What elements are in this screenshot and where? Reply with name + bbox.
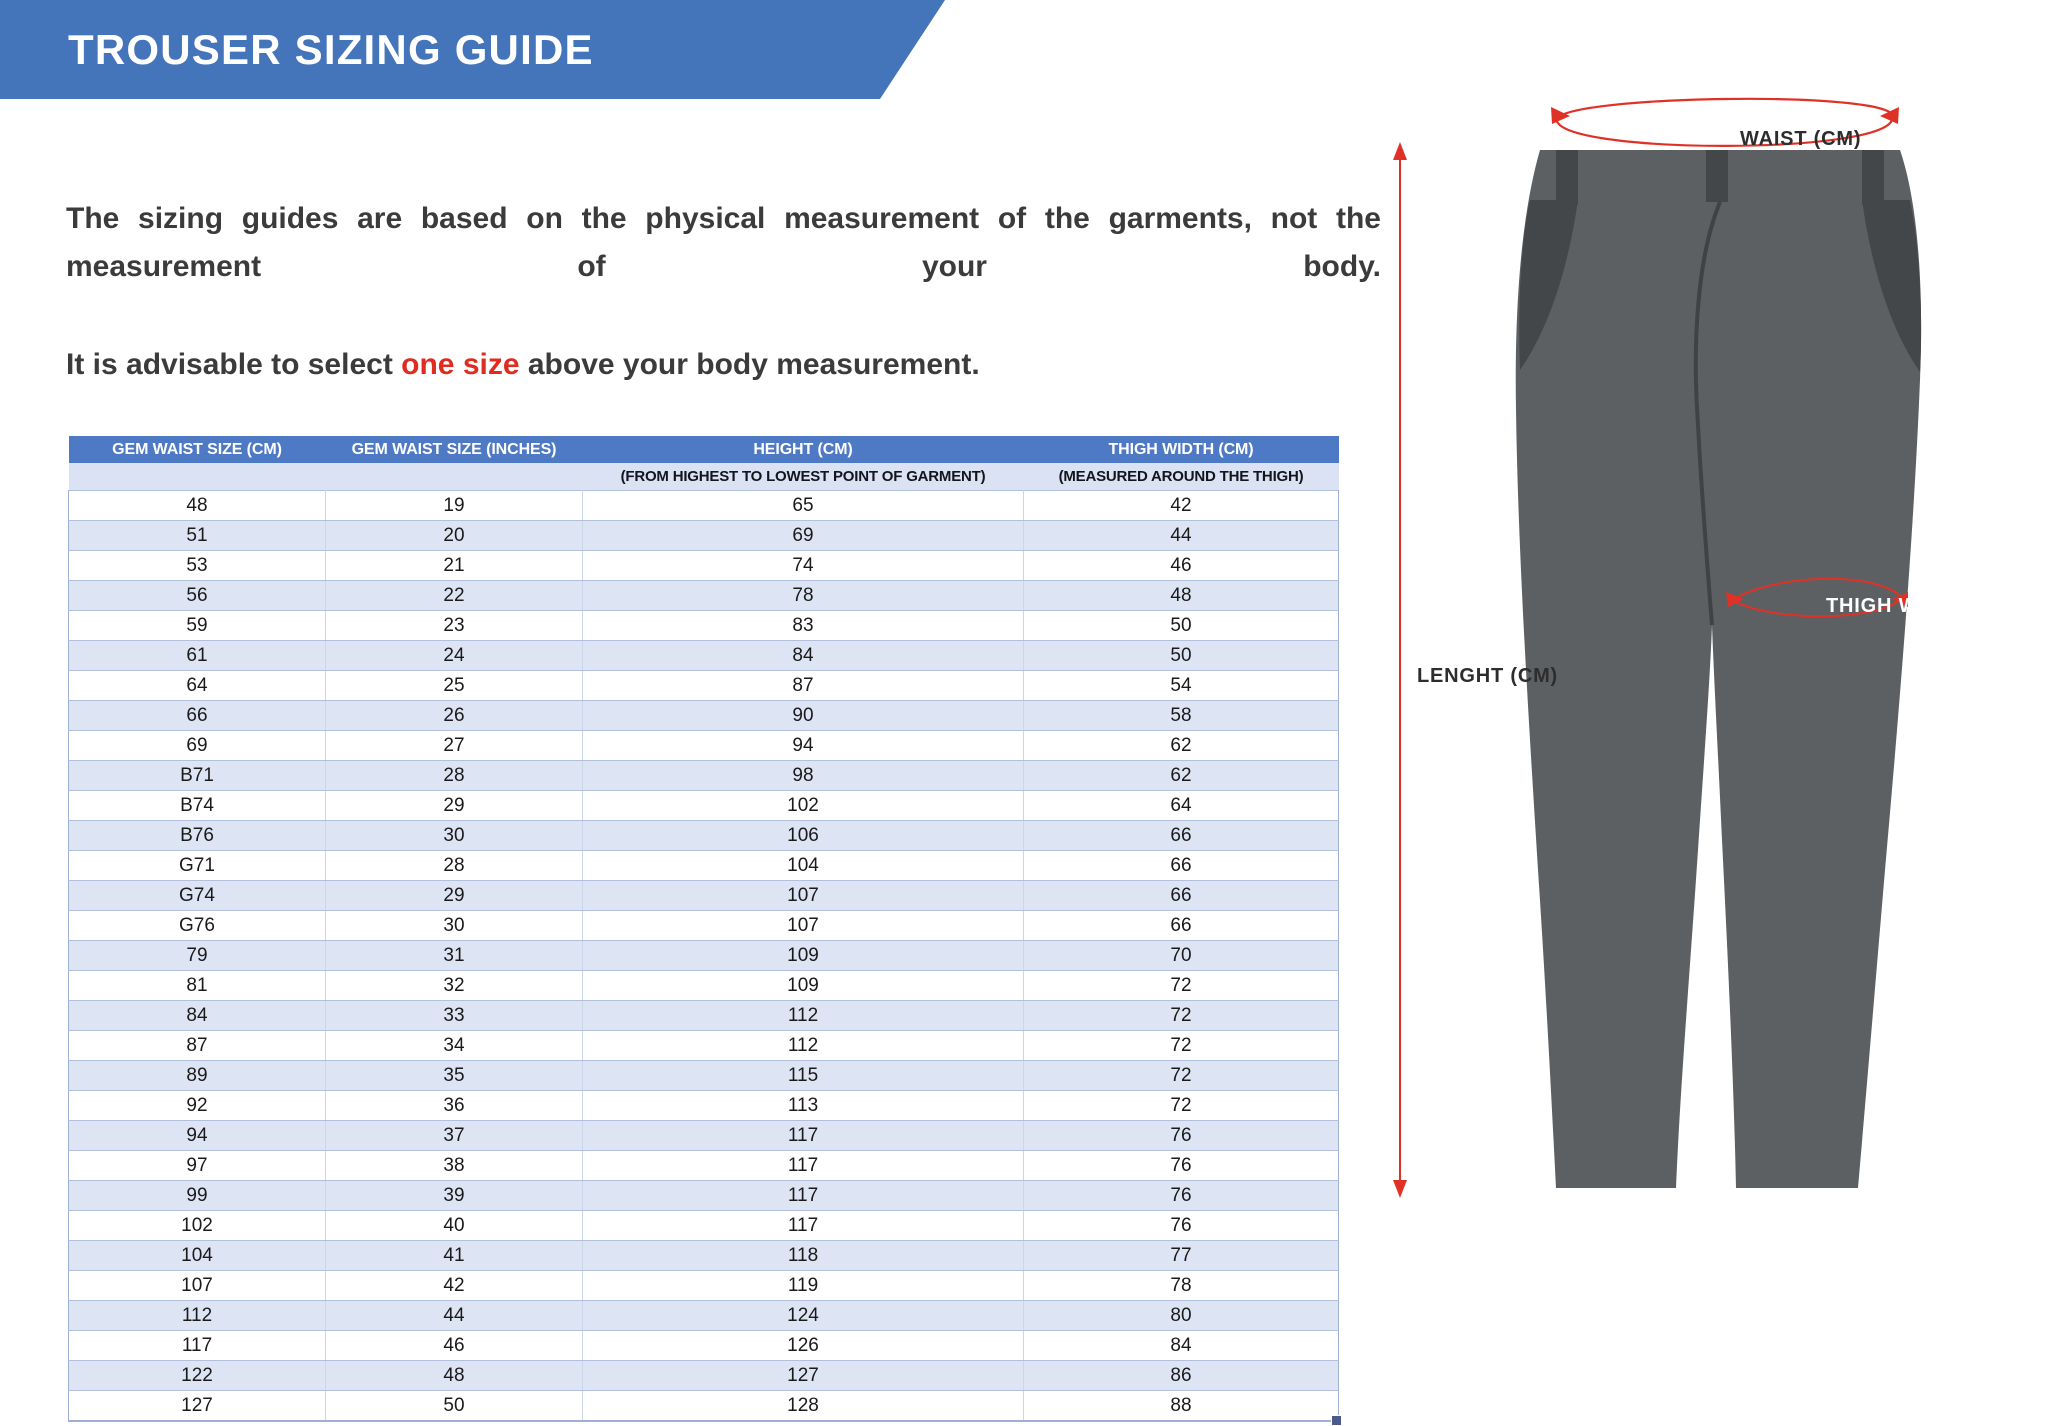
cell-waist-inches: 29 <box>326 881 583 911</box>
column-subheader-waist-cm <box>69 463 326 491</box>
cell-height: 118 <box>583 1241 1024 1271</box>
cell-thigh-width: 88 <box>1024 1391 1339 1422</box>
table-row: 893511572 <box>69 1061 1339 1091</box>
cell-height: 69 <box>583 521 1024 551</box>
cell-thigh-width: 66 <box>1024 851 1339 881</box>
column-header-waist-inches: GEM WAIST SIZE (INCHES) <box>326 436 583 463</box>
cell-thigh-width: 62 <box>1024 761 1339 791</box>
cell-waist-cm: 127 <box>69 1391 326 1422</box>
cell-thigh-width: 76 <box>1024 1211 1339 1241</box>
length-label: LENGHT (CM) <box>1417 665 1558 688</box>
cell-waist-cm: 99 <box>69 1181 326 1211</box>
table-row: 56227848 <box>69 581 1339 611</box>
table-row: 1275012888 <box>69 1391 1339 1422</box>
table-row: 843311272 <box>69 1001 1339 1031</box>
cell-waist-inches: 29 <box>326 791 583 821</box>
table-row: 1074211978 <box>69 1271 1339 1301</box>
selection-handle[interactable] <box>1331 1415 1342 1426</box>
table-row: 53217446 <box>69 551 1339 581</box>
cell-thigh-width: 44 <box>1024 521 1339 551</box>
cell-thigh-width: 62 <box>1024 731 1339 761</box>
cell-waist-cm: G76 <box>69 911 326 941</box>
cell-height: 102 <box>583 791 1024 821</box>
waist-arrowhead-left <box>1551 107 1570 124</box>
cell-waist-inches: 23 <box>326 611 583 641</box>
intro-paragraph-2-after: above your body measurement. <box>520 348 980 381</box>
table-row: B763010666 <box>69 821 1339 851</box>
cell-thigh-width: 66 <box>1024 821 1339 851</box>
cell-waist-inches: 30 <box>326 821 583 851</box>
cell-height: 109 <box>583 941 1024 971</box>
length-arrowhead-top <box>1393 142 1407 160</box>
cell-height: 117 <box>583 1211 1024 1241</box>
cell-thigh-width: 72 <box>1024 971 1339 1001</box>
cell-waist-inches: 42 <box>326 1271 583 1301</box>
cell-thigh-width: 76 <box>1024 1151 1339 1181</box>
table-row: 1124412480 <box>69 1301 1339 1331</box>
cell-waist-inches: 28 <box>326 851 583 881</box>
cell-waist-cm: 94 <box>69 1121 326 1151</box>
cell-height: 115 <box>583 1061 1024 1091</box>
cell-thigh-width: 46 <box>1024 551 1339 581</box>
cell-height: 119 <box>583 1271 1024 1301</box>
column-header-height: HEIGHT (CM) <box>583 436 1024 463</box>
table-row: 64258754 <box>69 671 1339 701</box>
cell-height: 107 <box>583 881 1024 911</box>
cell-height: 87 <box>583 671 1024 701</box>
cell-height: 104 <box>583 851 1024 881</box>
table-row: 973811776 <box>69 1151 1339 1181</box>
cell-waist-cm: 97 <box>69 1151 326 1181</box>
cell-waist-cm: 81 <box>69 971 326 1001</box>
cell-height: 107 <box>583 911 1024 941</box>
cell-thigh-width: 66 <box>1024 881 1339 911</box>
cell-height: 127 <box>583 1361 1024 1391</box>
cell-waist-cm: 122 <box>69 1361 326 1391</box>
column-header-waist-cm: GEM WAIST SIZE (CM) <box>69 436 326 463</box>
cell-height: 90 <box>583 701 1024 731</box>
table-row: 923611372 <box>69 1091 1339 1121</box>
cell-height: 106 <box>583 821 1024 851</box>
intro-paragraph-1: The sizing guides are based on the physi… <box>66 195 1381 339</box>
cell-waist-cm: 53 <box>69 551 326 581</box>
cell-thigh-width: 50 <box>1024 641 1339 671</box>
cell-height: 94 <box>583 731 1024 761</box>
cell-thigh-width: 58 <box>1024 701 1339 731</box>
cell-waist-cm: 61 <box>69 641 326 671</box>
cell-waist-cm: B71 <box>69 761 326 791</box>
length-arrowhead-bottom <box>1393 1180 1407 1198</box>
cell-thigh-width: 72 <box>1024 1091 1339 1121</box>
cell-thigh-width: 84 <box>1024 1331 1339 1361</box>
cell-thigh-width: 66 <box>1024 911 1339 941</box>
cell-thigh-width: 72 <box>1024 1031 1339 1061</box>
cell-waist-cm: 64 <box>69 671 326 701</box>
trouser-silhouette <box>1516 150 1921 1188</box>
cell-waist-cm: 107 <box>69 1271 326 1301</box>
cell-waist-cm: 104 <box>69 1241 326 1271</box>
cell-waist-cm: 89 <box>69 1061 326 1091</box>
cell-waist-cm: 51 <box>69 521 326 551</box>
table-row: B742910264 <box>69 791 1339 821</box>
cell-thigh-width: 77 <box>1024 1241 1339 1271</box>
cell-waist-cm: 56 <box>69 581 326 611</box>
cell-thigh-width: 42 <box>1024 491 1339 521</box>
cell-waist-inches: 38 <box>326 1151 583 1181</box>
cell-height: 98 <box>583 761 1024 791</box>
one-size-highlight: one size <box>401 348 519 381</box>
cell-height: 109 <box>583 971 1024 1001</box>
cell-thigh-width: 86 <box>1024 1361 1339 1391</box>
cell-waist-inches: 35 <box>326 1061 583 1091</box>
cell-thigh-width: 54 <box>1024 671 1339 701</box>
cell-waist-inches: 27 <box>326 731 583 761</box>
intro-paragraph-2: It is advisable to select one size above… <box>66 341 980 389</box>
cell-waist-inches: 31 <box>326 941 583 971</box>
cell-height: 78 <box>583 581 1024 611</box>
cell-thigh-width: 70 <box>1024 941 1339 971</box>
cell-thigh-width: 76 <box>1024 1181 1339 1211</box>
cell-thigh-width: 80 <box>1024 1301 1339 1331</box>
table-row: B71289862 <box>69 761 1339 791</box>
cell-height: 112 <box>583 1031 1024 1061</box>
sizing-table-container: GEM WAIST SIZE (CM) GEM WAIST SIZE (INCH… <box>68 436 1338 1422</box>
cell-waist-inches: 19 <box>326 491 583 521</box>
cell-waist-inches: 46 <box>326 1331 583 1361</box>
table-row: 69279462 <box>69 731 1339 761</box>
table-row: 943711776 <box>69 1121 1339 1151</box>
table-row: 993911776 <box>69 1181 1339 1211</box>
cell-height: 74 <box>583 551 1024 581</box>
cell-waist-cm: B74 <box>69 791 326 821</box>
cell-thigh-width: 72 <box>1024 1001 1339 1031</box>
belt-loop-right <box>1862 150 1884 205</box>
table-row: 873411272 <box>69 1031 1339 1061</box>
cell-waist-cm: 66 <box>69 701 326 731</box>
column-subheader-waist-inches <box>326 463 583 491</box>
cell-waist-inches: 30 <box>326 911 583 941</box>
cell-waist-cm: 102 <box>69 1211 326 1241</box>
cell-height: 117 <box>583 1121 1024 1151</box>
cell-height: 84 <box>583 641 1024 671</box>
cell-waist-cm: 87 <box>69 1031 326 1061</box>
length-arrow-icon <box>1393 142 1407 1198</box>
cell-waist-cm: 112 <box>69 1301 326 1331</box>
table-row: 1044111877 <box>69 1241 1339 1271</box>
page-title: TROUSER SIZING GUIDE <box>68 0 594 99</box>
intro-text-block: The sizing guides are based on the physi… <box>66 195 1376 339</box>
table-row: G763010766 <box>69 911 1339 941</box>
cell-height: 117 <box>583 1151 1024 1181</box>
column-subheader-thigh-width: (MEASURED AROUND THE THIGH) <box>1024 463 1339 491</box>
cell-waist-inches: 26 <box>326 701 583 731</box>
cell-waist-cm: B76 <box>69 821 326 851</box>
table-row: 51206944 <box>69 521 1339 551</box>
waist-label: WAIST (CM) <box>1740 128 1861 151</box>
cell-thigh-width: 78 <box>1024 1271 1339 1301</box>
cell-waist-cm: G71 <box>69 851 326 881</box>
cell-waist-inches: 24 <box>326 641 583 671</box>
cell-thigh-width: 76 <box>1024 1121 1339 1151</box>
table-row: G742910766 <box>69 881 1339 911</box>
table-row: 813210972 <box>69 971 1339 1001</box>
cell-height: 113 <box>583 1091 1024 1121</box>
intro-paragraph-1-text: The sizing guides are based on the physi… <box>66 202 1381 283</box>
cell-height: 83 <box>583 611 1024 641</box>
cell-waist-inches: 50 <box>326 1391 583 1422</box>
cell-waist-cm: 117 <box>69 1331 326 1361</box>
sizing-table: GEM WAIST SIZE (CM) GEM WAIST SIZE (INCH… <box>68 436 1339 1422</box>
table-body: 4819654251206944532174465622784859238350… <box>69 491 1339 1422</box>
cell-waist-inches: 36 <box>326 1091 583 1121</box>
cell-waist-cm: 59 <box>69 611 326 641</box>
cell-waist-inches: 37 <box>326 1121 583 1151</box>
cell-waist-inches: 32 <box>326 971 583 1001</box>
cell-thigh-width: 64 <box>1024 791 1339 821</box>
table-header: GEM WAIST SIZE (CM) GEM WAIST SIZE (INCH… <box>69 436 1339 491</box>
cell-waist-inches: 40 <box>326 1211 583 1241</box>
table-row: 61248450 <box>69 641 1339 671</box>
cell-waist-cm: G74 <box>69 881 326 911</box>
cell-waist-cm: 69 <box>69 731 326 761</box>
belt-loop-center <box>1706 150 1728 202</box>
cell-waist-inches: 28 <box>326 761 583 791</box>
cell-height: 112 <box>583 1001 1024 1031</box>
table-row: 793110970 <box>69 941 1339 971</box>
cell-waist-inches: 41 <box>326 1241 583 1271</box>
table-row: 48196542 <box>69 491 1339 521</box>
cell-waist-cm: 84 <box>69 1001 326 1031</box>
table-header-row-main: GEM WAIST SIZE (CM) GEM WAIST SIZE (INCH… <box>69 436 1339 463</box>
cell-height: 128 <box>583 1391 1024 1422</box>
table-row: 1224812786 <box>69 1361 1339 1391</box>
table-row: G712810466 <box>69 851 1339 881</box>
cell-height: 126 <box>583 1331 1024 1361</box>
cell-thigh-width: 48 <box>1024 581 1339 611</box>
cell-waist-inches: 33 <box>326 1001 583 1031</box>
cell-waist-inches: 25 <box>326 671 583 701</box>
intro-paragraph-2-before: It is advisable to select <box>66 348 401 381</box>
column-subheader-height: (FROM HIGHEST TO LOWEST POINT OF GARMENT… <box>583 463 1024 491</box>
belt-loop-left <box>1556 150 1578 205</box>
table-row: 1024011776 <box>69 1211 1339 1241</box>
cell-waist-inches: 39 <box>326 1181 583 1211</box>
column-header-thigh-width: THIGH WIDTH (CM) <box>1024 436 1339 463</box>
cell-waist-inches: 22 <box>326 581 583 611</box>
table-row: 1174612684 <box>69 1331 1339 1361</box>
cell-waist-cm: 79 <box>69 941 326 971</box>
cell-waist-inches: 44 <box>326 1301 583 1331</box>
table-row: 59238350 <box>69 611 1339 641</box>
cell-thigh-width: 72 <box>1024 1061 1339 1091</box>
cell-waist-inches: 34 <box>326 1031 583 1061</box>
cell-height: 117 <box>583 1181 1024 1211</box>
cell-waist-cm: 92 <box>69 1091 326 1121</box>
cell-waist-inches: 20 <box>326 521 583 551</box>
table-row: 66269058 <box>69 701 1339 731</box>
cell-thigh-width: 50 <box>1024 611 1339 641</box>
trouser-shape <box>1516 150 1921 1188</box>
thigh-width-label: THIGH WIDTH (CM) <box>1826 595 2022 618</box>
cell-height: 124 <box>583 1301 1024 1331</box>
cell-waist-cm: 48 <box>69 491 326 521</box>
cell-waist-inches: 21 <box>326 551 583 581</box>
table-header-row-sub: (FROM HIGHEST TO LOWEST POINT OF GARMENT… <box>69 463 1339 491</box>
cell-waist-inches: 48 <box>326 1361 583 1391</box>
cell-height: 65 <box>583 491 1024 521</box>
